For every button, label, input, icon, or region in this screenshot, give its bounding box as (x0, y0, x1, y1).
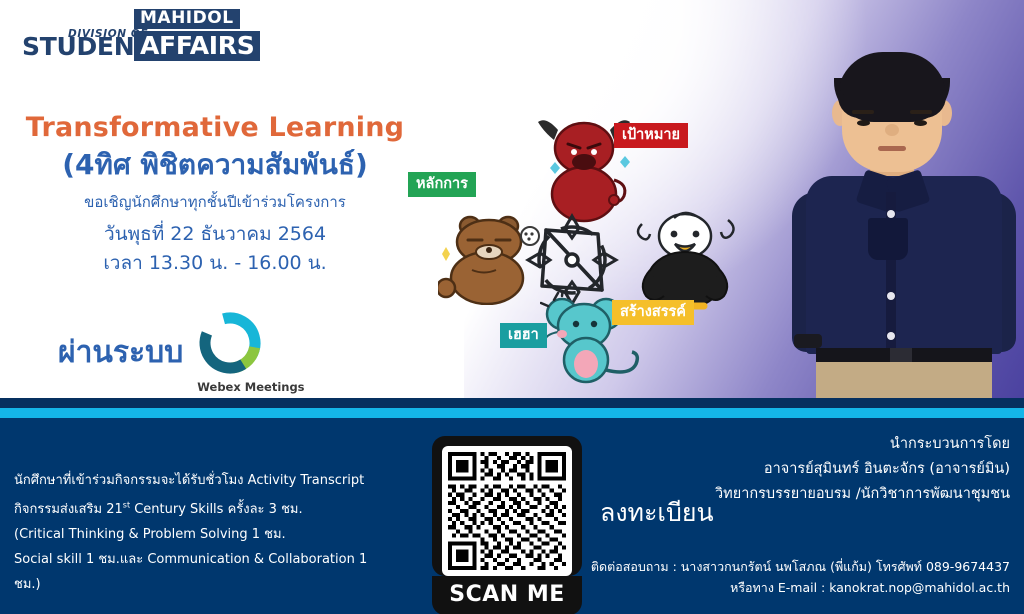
event-time: เวลา 13.30 น. - 16.00 น. (0, 249, 430, 278)
photo-belt-buckle (890, 348, 912, 362)
event-date: วันพุธที่ 22 ธันวาคม 2564 (0, 220, 430, 249)
speaker-photo (782, 52, 1024, 398)
event-poster: MAHIDOL DIVISION OF STUDENT AFFAIRS Tran… (0, 0, 1024, 614)
divider-band-cyan (0, 408, 1024, 418)
note-line-4: Social skill 1 ชม.และ Communication & Co… (14, 547, 394, 597)
poster-bottom-section: นักศึกษาที่เข้าร่วมกิจกรรมจะได้รับชั่วโม… (0, 418, 1024, 614)
platform-block: ผ่านระบบ Webex Meetings (58, 310, 293, 395)
logo-affairs-text: AFFAIRS (134, 31, 260, 61)
logo-student-text: STUDENT (22, 34, 151, 59)
headline-block: Transformative Learning (4ทิศ พิชิตความส… (0, 112, 430, 278)
contact-phone-line: ติดต่อสอบถาม : นางสาวกนกรัตน์ นพโสภณ (พี… (510, 556, 1010, 577)
photo-brow-left (852, 110, 874, 114)
photo-nose (885, 124, 899, 136)
photo-wristwatch (794, 334, 822, 348)
photo-button-4 (887, 332, 895, 340)
label-goal: เป้าหมาย (614, 123, 688, 148)
photo-trousers (816, 360, 992, 398)
label-principle: หลักการ (408, 172, 476, 197)
activity-transcript-notes: นักศึกษาที่เข้าร่วมกิจกรรมจะได้รับชั่วโม… (14, 468, 394, 597)
poster-top-section: MAHIDOL DIVISION OF STUDENT AFFAIRS Tran… (0, 0, 1024, 398)
photo-fringe (840, 64, 944, 96)
note-line-2: กิจกรรมส่งเสริม 21st Century Skills ครั้… (14, 493, 394, 522)
note-line-2-text: กิจกรรมส่งเสริม 21st Century Skills ครั้… (14, 502, 303, 517)
speaker-info: นำกระบวนการโดย อาจารย์สุมินทร์ อินตะจักร… (590, 432, 1010, 507)
ordinal-suffix: st (123, 501, 130, 510)
qr-card[interactable] (432, 436, 582, 576)
webex-meetings-logo: Webex Meetings (197, 310, 293, 395)
speaker-name: อาจารย์สุมินทร์ อินตะจักร (อาจารย์มิน) (590, 457, 1010, 482)
speaker-led-by: นำกระบวนการโดย (590, 432, 1010, 457)
via-label: ผ่านระบบ (58, 336, 183, 370)
divider-band-navy-top (0, 398, 1024, 408)
webex-ring-icon (197, 310, 293, 376)
contact-info: ติดต่อสอบถาม : นางสาวกนกรัตน์ นพโสภณ (พี… (510, 556, 1010, 598)
label-creative: สร้างสรรค์ (612, 300, 694, 325)
speaker-role: วิทยากรบรรยายอบรม /นักวิชาการพัฒนาชุมชน (590, 482, 1010, 507)
note-line-1: นักศึกษาที่เข้าร่วมกิจกรรมจะได้รับชั่วโม… (14, 468, 394, 493)
webex-label: Webex Meetings (197, 380, 304, 394)
invitation-line: ขอเชิญนักศึกษาทุกชั้นปีเข้าร่วมโครงการ (0, 190, 430, 214)
photo-mouth (878, 146, 906, 151)
note-line-3: (Critical Thinking & Problem Solving 1 ช… (14, 522, 394, 547)
four-directions-illustration: หลักการ เป้าหมาย สร้างสรรค์ เฮฮา (400, 110, 770, 380)
photo-button-3 (887, 292, 895, 300)
photo-eye-right (914, 120, 927, 126)
logo-mahidol-text: MAHIDOL (134, 9, 240, 29)
contact-email-line: หรือทาง E-mail : kanokrat.nop@mahidol.ac… (510, 577, 1010, 598)
photo-brow-right (910, 110, 932, 114)
photo-eye-left (857, 120, 870, 126)
page-title-english: Transformative Learning (0, 112, 430, 144)
page-title-thai: (4ทิศ พิชิตความสัมพันธ์) (0, 146, 430, 184)
label-fun: เฮฮา (500, 323, 547, 348)
photo-shirt-pocket (868, 218, 908, 260)
photo-button-1 (887, 210, 895, 218)
